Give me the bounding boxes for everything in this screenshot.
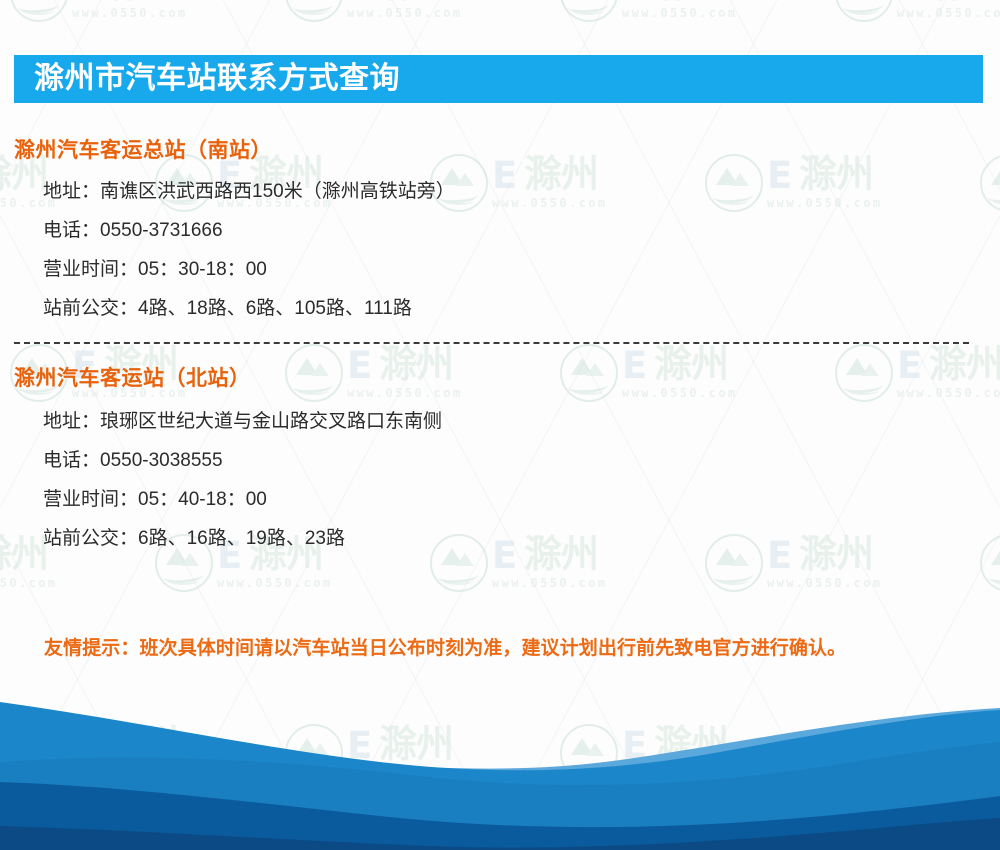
station-south-phone: 电话：0550-3731666 bbox=[43, 219, 223, 243]
footer-wave-decoration bbox=[0, 690, 1000, 850]
station-south-address: 地址：南谯区洪武西路西150米（滁州高铁站旁） bbox=[43, 180, 455, 204]
station-title-north: 滁州汽车客运站（北站） bbox=[14, 366, 251, 392]
footer-tip-text: 友情提示：班次具体时间请以汽车站当日公布时刻为准，建议计划出行前先致电官方进行确… bbox=[44, 637, 846, 661]
station-north-hours: 营业时间：05：40-18：00 bbox=[43, 488, 267, 512]
poster-canvas: E滁州www.0550.comE滁州www.0550.comE滁州www.055… bbox=[0, 0, 1000, 850]
station-title-south: 滁州汽车客运总站（南站） bbox=[14, 138, 272, 164]
station-north-phone: 电话：0550-3038555 bbox=[43, 449, 223, 473]
station-north-buses: 站前公交：6路、16路、19路、23路 bbox=[43, 527, 345, 551]
section-divider bbox=[14, 342, 969, 344]
station-north-address: 地址：琅琊区世纪大道与金山路交叉路口东南侧 bbox=[43, 410, 442, 434]
station-south-buses: 站前公交：4路、18路、6路、105路、111路 bbox=[43, 297, 412, 321]
station-south-hours: 营业时间：05：30-18：00 bbox=[43, 258, 267, 282]
